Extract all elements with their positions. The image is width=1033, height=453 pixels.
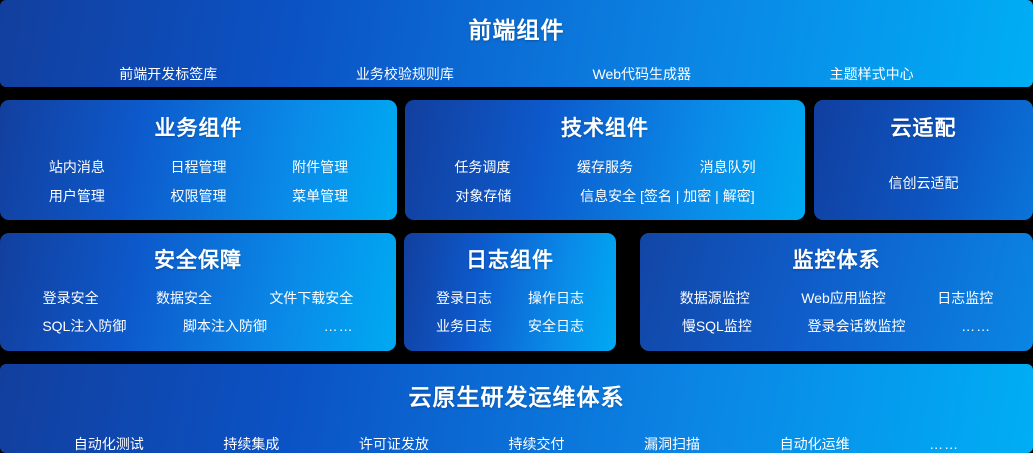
card-business-row-2: 用户管理 权限管理 菜单管理 — [0, 186, 397, 206]
architecture-diagram: 前端组件 前端开发标签库 业务校验规则库 Web代码生成器 主题样式中心 业务组… — [0, 0, 1033, 453]
bottom-banner-item[interactable]: 自动化测试 — [74, 434, 144, 453]
card-monitor-item[interactable]: 数据源监控 — [680, 288, 750, 308]
card-log-components[interactable]: 日志组件 登录日志 操作日志 业务日志 安全日志 — [404, 233, 616, 351]
card-log-row-2: 业务日志 安全日志 — [404, 316, 616, 336]
card-monitor-item[interactable]: Web应用监控 — [801, 288, 886, 308]
top-banner-item-list: 前端开发标签库 业务校验规则库 Web代码生成器 主题样式中心 — [0, 64, 1033, 84]
card-log-item[interactable]: 登录日志 — [436, 288, 492, 308]
bottom-banner-item-list: 自动化测试 持续集成 许可证发放 持续交付 漏洞扫描 自动化运维 …… — [0, 434, 1033, 453]
card-business-components[interactable]: 业务组件 站内消息 日程管理 附件管理 用户管理 权限管理 菜单管理 — [0, 100, 397, 220]
bottom-banner-item[interactable]: 许可证发放 — [359, 434, 429, 453]
bottom-banner-item[interactable]: 自动化运维 — [780, 434, 850, 453]
card-business-item[interactable]: 附件管理 — [292, 157, 348, 177]
bottom-banner-cloud-native-devops: 云原生研发运维体系 自动化测试 持续集成 许可证发放 持续交付 漏洞扫描 自动化… — [0, 364, 1033, 453]
card-monitor-item[interactable]: 日志监控 — [937, 288, 993, 308]
card-business-item[interactable]: 菜单管理 — [292, 186, 348, 206]
card-monitor-row-1: 数据源监控 Web应用监控 日志监控 — [640, 288, 1033, 308]
card-technical-title: 技术组件 — [405, 112, 805, 142]
bottom-banner-item[interactable]: 持续交付 — [508, 434, 564, 453]
card-business-item[interactable]: 站内消息 — [49, 157, 105, 177]
top-banner-frontend-components: 前端组件 前端开发标签库 业务校验规则库 Web代码生成器 主题样式中心 — [0, 0, 1033, 87]
card-log-item[interactable]: 业务日志 — [436, 316, 492, 336]
card-business-item[interactable]: 日程管理 — [170, 157, 226, 177]
top-banner-item[interactable]: Web代码生成器 — [593, 64, 692, 84]
card-log-title: 日志组件 — [404, 244, 616, 274]
card-security-item[interactable]: 脚本注入防御 — [183, 316, 267, 336]
bottom-banner-item-ellipsis: …… — [929, 436, 959, 452]
card-security-item-ellipsis: …… — [324, 318, 354, 334]
card-monitor-item[interactable]: 慢SQL监控 — [682, 316, 752, 336]
card-monitor-item[interactable]: 登录会话数监控 — [808, 316, 906, 336]
top-banner-item[interactable]: 前端开发标签库 — [119, 64, 217, 84]
card-technical-item-infosec[interactable]: 信息安全 [签名 | 加密 | 解密] — [580, 186, 755, 206]
bottom-banner-item[interactable]: 持续集成 — [223, 434, 279, 453]
top-banner-item[interactable]: 业务校验规则库 — [356, 64, 454, 84]
card-security-item[interactable]: 登录安全 — [43, 288, 99, 308]
card-cloud-adaptation[interactable]: 云适配 信创云适配 — [814, 100, 1033, 220]
card-technical-item[interactable]: 对象存储 — [455, 186, 511, 206]
card-monitor-item-ellipsis: …… — [961, 318, 991, 334]
card-security-item[interactable]: 文件下载安全 — [269, 288, 353, 308]
card-log-item[interactable]: 安全日志 — [528, 316, 584, 336]
card-security-item[interactable]: SQL注入防御 — [42, 316, 126, 336]
card-log-row-1: 登录日志 操作日志 — [404, 288, 616, 308]
card-monitoring-system[interactable]: 监控体系 数据源监控 Web应用监控 日志监控 慢SQL监控 登录会话数监控 …… — [640, 233, 1033, 351]
bottom-banner-title: 云原生研发运维体系 — [0, 378, 1033, 412]
card-security-title: 安全保障 — [0, 244, 396, 274]
card-technical-item[interactable]: 消息队列 — [700, 157, 756, 177]
bottom-banner-item[interactable]: 漏洞扫描 — [644, 434, 700, 453]
card-cloud-title: 云适配 — [814, 112, 1033, 142]
card-business-item[interactable]: 权限管理 — [170, 186, 226, 206]
card-business-title: 业务组件 — [0, 112, 397, 142]
card-business-row-1: 站内消息 日程管理 附件管理 — [0, 157, 397, 177]
card-business-item[interactable]: 用户管理 — [49, 186, 105, 206]
top-banner-title: 前端组件 — [0, 11, 1033, 45]
card-technical-row-2: 对象存储 信息安全 [签名 | 加密 | 解密] — [405, 186, 805, 206]
card-technical-components[interactable]: 技术组件 任务调度 缓存服务 消息队列 对象存储 信息安全 [签名 | 加密 |… — [405, 100, 805, 220]
card-security-row-2: SQL注入防御 脚本注入防御 …… — [0, 316, 396, 336]
card-technical-row-1: 任务调度 缓存服务 消息队列 — [405, 157, 805, 177]
top-banner-item[interactable]: 主题样式中心 — [830, 64, 914, 84]
card-monitor-title: 监控体系 — [640, 244, 1033, 274]
card-technical-item[interactable]: 缓存服务 — [577, 157, 633, 177]
card-log-item[interactable]: 操作日志 — [528, 288, 584, 308]
card-security-item[interactable]: 数据安全 — [156, 288, 212, 308]
card-monitor-row-2: 慢SQL监控 登录会话数监控 …… — [640, 316, 1033, 336]
card-cloud-item[interactable]: 信创云适配 — [814, 173, 1033, 193]
card-security-row-1: 登录安全 数据安全 文件下载安全 — [0, 288, 396, 308]
card-technical-item[interactable]: 任务调度 — [454, 157, 510, 177]
card-security-assurance[interactable]: 安全保障 登录安全 数据安全 文件下载安全 SQL注入防御 脚本注入防御 …… — [0, 233, 396, 351]
